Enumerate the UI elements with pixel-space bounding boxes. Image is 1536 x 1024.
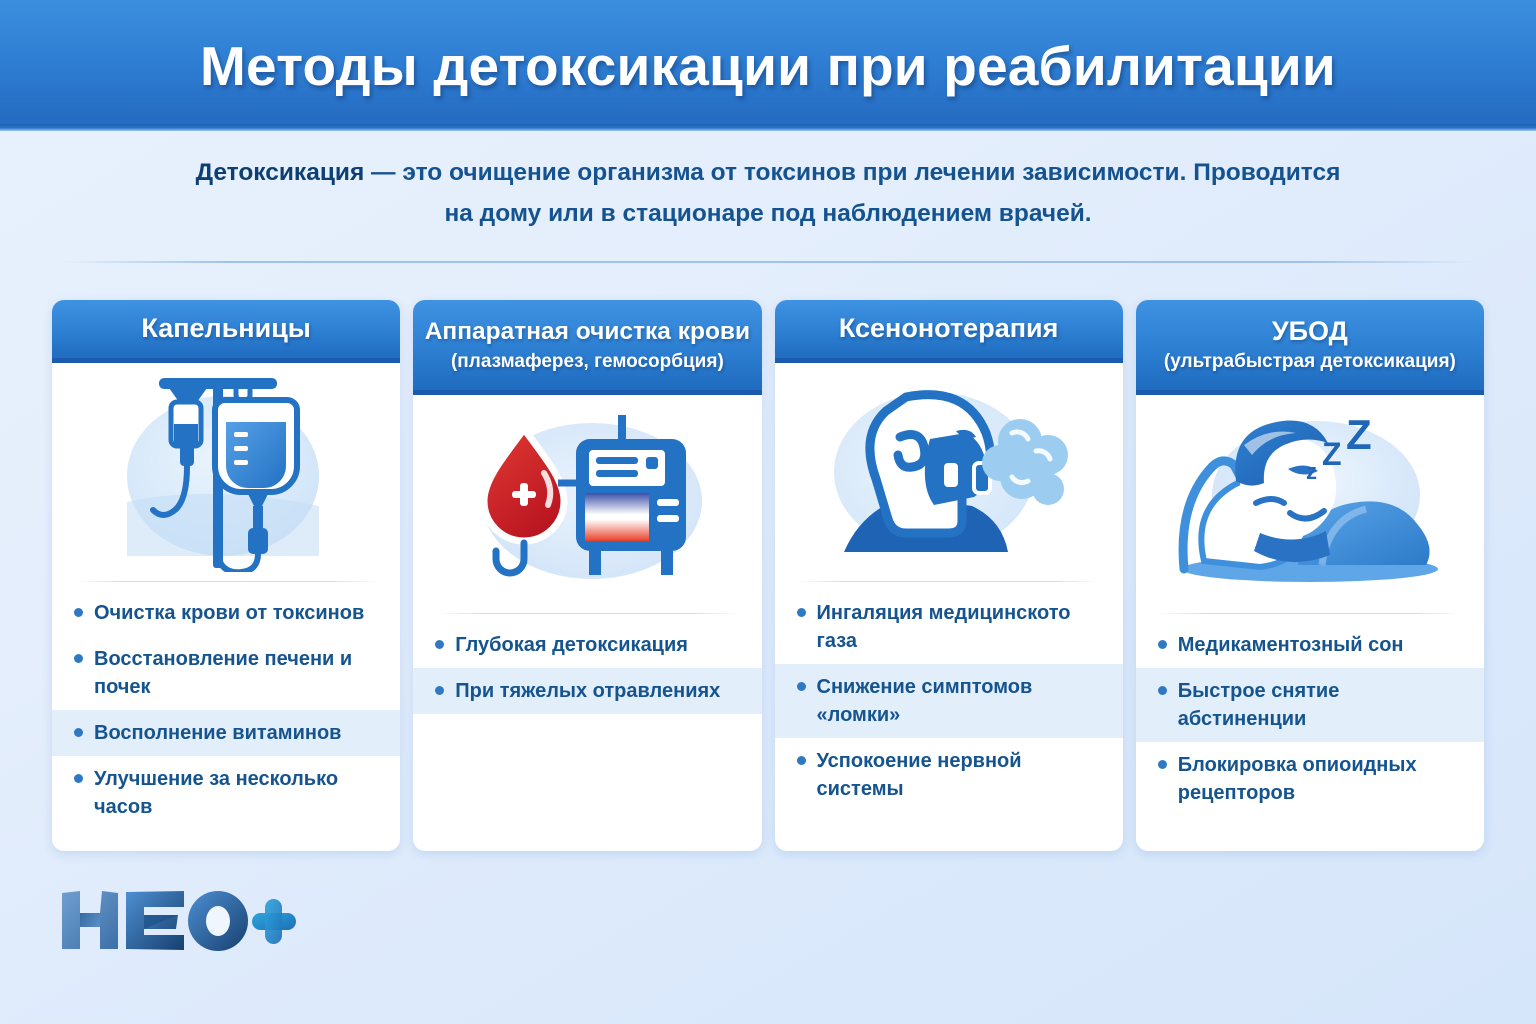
bullet-dot-icon (74, 774, 83, 783)
card-header-blood-purification: Аппаратная очистка крови (плазмаферез, г… (413, 300, 761, 395)
list-item: Глубокая детоксикация (413, 622, 761, 668)
list-item: Быстрое снятие абстиненции (1136, 668, 1484, 742)
list-item: Восполнение витаминов (52, 710, 400, 756)
list-item-label: Блокировка опиоидных рецепторов (1178, 754, 1417, 804)
list-item: Ингаляция медицинското газа (775, 590, 1123, 664)
bullet-dot-icon (1158, 686, 1167, 695)
list-item-label: Снижение симптомов «ломки» (817, 676, 1033, 726)
bullet-dot-icon (435, 640, 444, 649)
list-item: При тяжелых отравлениях (413, 668, 761, 714)
method-card-xenon[interactable]: Ксенонотерапия (775, 300, 1123, 851)
iv-drip-icon (52, 363, 400, 581)
method-card-drip[interactable]: Капельницы (52, 300, 400, 851)
list-item: Восстановление печени и почек (52, 636, 400, 710)
method-card-ubod[interactable]: УБОД (ультрабыстрая детоксикация) (1136, 300, 1484, 851)
benefits-list-xenon: Ингаляция медицинското газа Снижение сим… (775, 582, 1123, 812)
card-subtitle: (плазмаферез, гемосорбция) (451, 349, 724, 374)
bullet-dot-icon (74, 728, 83, 737)
bullet-dot-icon (1158, 640, 1167, 649)
list-item: Медикаментозный сон (1136, 622, 1484, 668)
intro-lead-word: Детоксикация (196, 159, 365, 186)
method-card-blood-purification[interactable]: Аппаратная очистка крови (плазмаферез, г… (413, 300, 761, 851)
card-header-ubod: УБОД (ультрабыстрая детоксикация) (1136, 300, 1484, 395)
sleeping-patient-icon: z Z Z (1136, 395, 1484, 613)
bullet-dot-icon (797, 608, 806, 617)
list-item: Блокировка опиоидных рецепторов (1136, 742, 1484, 816)
list-item: Очистка крови от токсинов (52, 590, 400, 636)
list-item-label: Восстановление печени и почек (94, 648, 352, 698)
list-item-label: Восполнение витаминов (94, 722, 341, 744)
list-item: Успокоение нервной системы (775, 738, 1123, 812)
card-title: Капельницы (141, 312, 310, 345)
oxygen-mask-icon (775, 363, 1123, 581)
list-item-label: Быстрое снятие абстиненции (1178, 680, 1340, 730)
card-title: УБОД (1272, 315, 1348, 348)
page-title: Методы детоксикации при реабилитации (200, 34, 1336, 98)
list-item-label: Ингаляция медицинското газа (817, 602, 1071, 652)
intro-block: Детоксикация — это очищение организма от… (0, 152, 1536, 234)
intro-line1: — это очищение организма от токсинов при… (364, 159, 1340, 186)
page-header-bar: Методы детоксикации при реабилитации (0, 0, 1536, 131)
methods-card-row: Капельницы (52, 300, 1484, 851)
svg-text:Z: Z (1322, 436, 1342, 472)
benefits-list-drip: Очистка крови от токсинов Восстановление… (52, 582, 400, 830)
list-item: Снижение симптомов «ломки» (775, 664, 1123, 738)
card-title: Аппаратная очистка крови (425, 315, 750, 348)
blood-purification-icon (413, 395, 761, 613)
benefits-list-blood-purification: Глубокая детоксикация При тяжелых отравл… (413, 614, 761, 714)
benefits-list-ubod: Медикаментозный сон Быстрое снятие абсти… (1136, 614, 1484, 816)
neo-plus-logo (56, 885, 296, 957)
intro-paragraph: Детоксикация — это очищение организма от… (180, 152, 1356, 234)
bullet-dot-icon (435, 686, 444, 695)
list-item: Улучшение за несколько часов (52, 756, 400, 830)
card-header-xenon: Ксенонотерапия (775, 300, 1123, 363)
bullet-dot-icon (1158, 760, 1167, 769)
card-header-drip: Капельницы (52, 300, 400, 363)
list-item-label: При тяжелых отравлениях (455, 680, 720, 702)
svg-text:Z: Z (1346, 411, 1372, 458)
list-item-label: Медикаментозный сон (1178, 634, 1404, 656)
bullet-dot-icon (797, 756, 806, 765)
list-item-label: Глубокая детоксикация (455, 634, 688, 656)
svg-text:z: z (1306, 459, 1317, 484)
bullet-dot-icon (74, 654, 83, 663)
list-item-label: Улучшение за несколько часов (94, 768, 338, 818)
card-subtitle: (ультрабыстрая детоксикация) (1164, 349, 1456, 374)
card-title: Ксенонотерапия (839, 312, 1059, 345)
list-item-label: Успокоение нервной системы (817, 750, 1022, 800)
list-item-label: Очистка крови от токсинов (94, 602, 364, 624)
bullet-dot-icon (797, 682, 806, 691)
bullet-dot-icon (74, 608, 83, 617)
intro-line2: на дому или в стационаре под наблюдением… (444, 200, 1091, 227)
section-divider (58, 261, 1478, 263)
